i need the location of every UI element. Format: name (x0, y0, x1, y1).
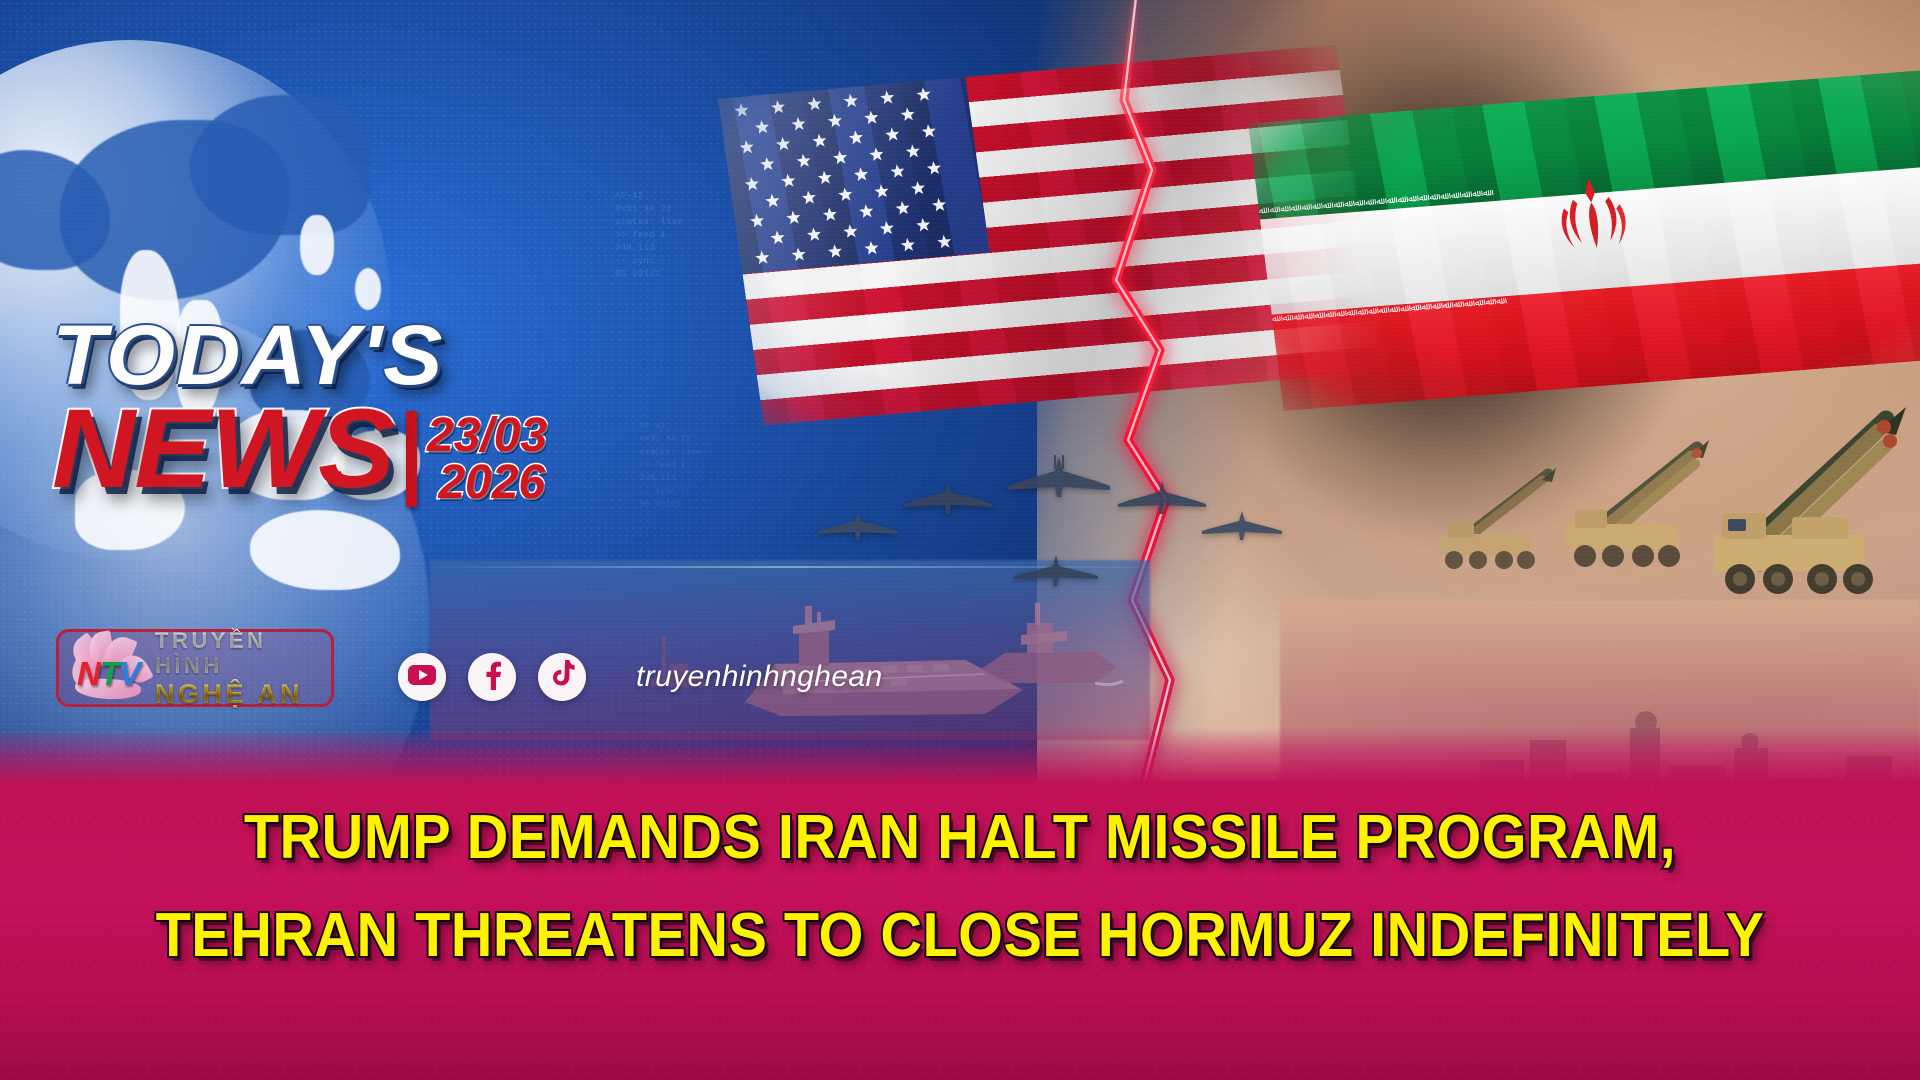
date-badge: 23/03 2026 (406, 411, 547, 507)
social-links-row: truyenhinhnghean (398, 653, 883, 701)
social-handle: truyenhinhnghean (636, 660, 883, 694)
ntv-initials: NTV (77, 657, 140, 690)
date-day-month: 23/03 (427, 412, 547, 459)
youtube-button[interactable] (398, 653, 446, 701)
headline-block: TRUMP DEMANDS IRAN HALT MISSILE PROGRAM,… (0, 786, 1920, 988)
headline-line-1: TRUMP DEMANDS IRAN HALT MISSILE PROGRAM, (67, 786, 1853, 890)
ntv-initial-v: V (119, 655, 140, 692)
logo-line-todays: TODAY'S (52, 315, 730, 395)
ntv-initial-n: N (77, 655, 100, 692)
ntv-channel-logo[interactable]: NTV TRUYỀN HÌNH NGHỆ AN (56, 629, 334, 707)
date-divider-bar (406, 411, 417, 507)
headline-line-2: TEHRAN THREATENS TO CLOSE HORMUZ INDEFIN… (67, 884, 1853, 988)
todays-news-logo: TODAY'S NEWS 23/03 2026 (52, 315, 692, 507)
date-year: 2026 (427, 459, 547, 506)
ntv-lotus-icon: NTV (67, 635, 151, 701)
channel-name-line2: NGHỆ AN (155, 679, 331, 709)
facebook-button[interactable] (468, 653, 516, 701)
logo-line-news: NEWS (52, 397, 394, 501)
tiktok-button[interactable] (538, 653, 586, 701)
youtube-icon (408, 665, 436, 690)
tiktok-icon (549, 660, 575, 694)
ntv-initial-t: T (100, 655, 119, 692)
channel-name-line1: TRUYỀN HÌNH (155, 628, 331, 678)
news-thumbnail-canvas: AF-42 0x31 9A 22 status: live >> feed 1 … (0, 0, 1920, 1080)
facebook-icon (479, 660, 505, 695)
